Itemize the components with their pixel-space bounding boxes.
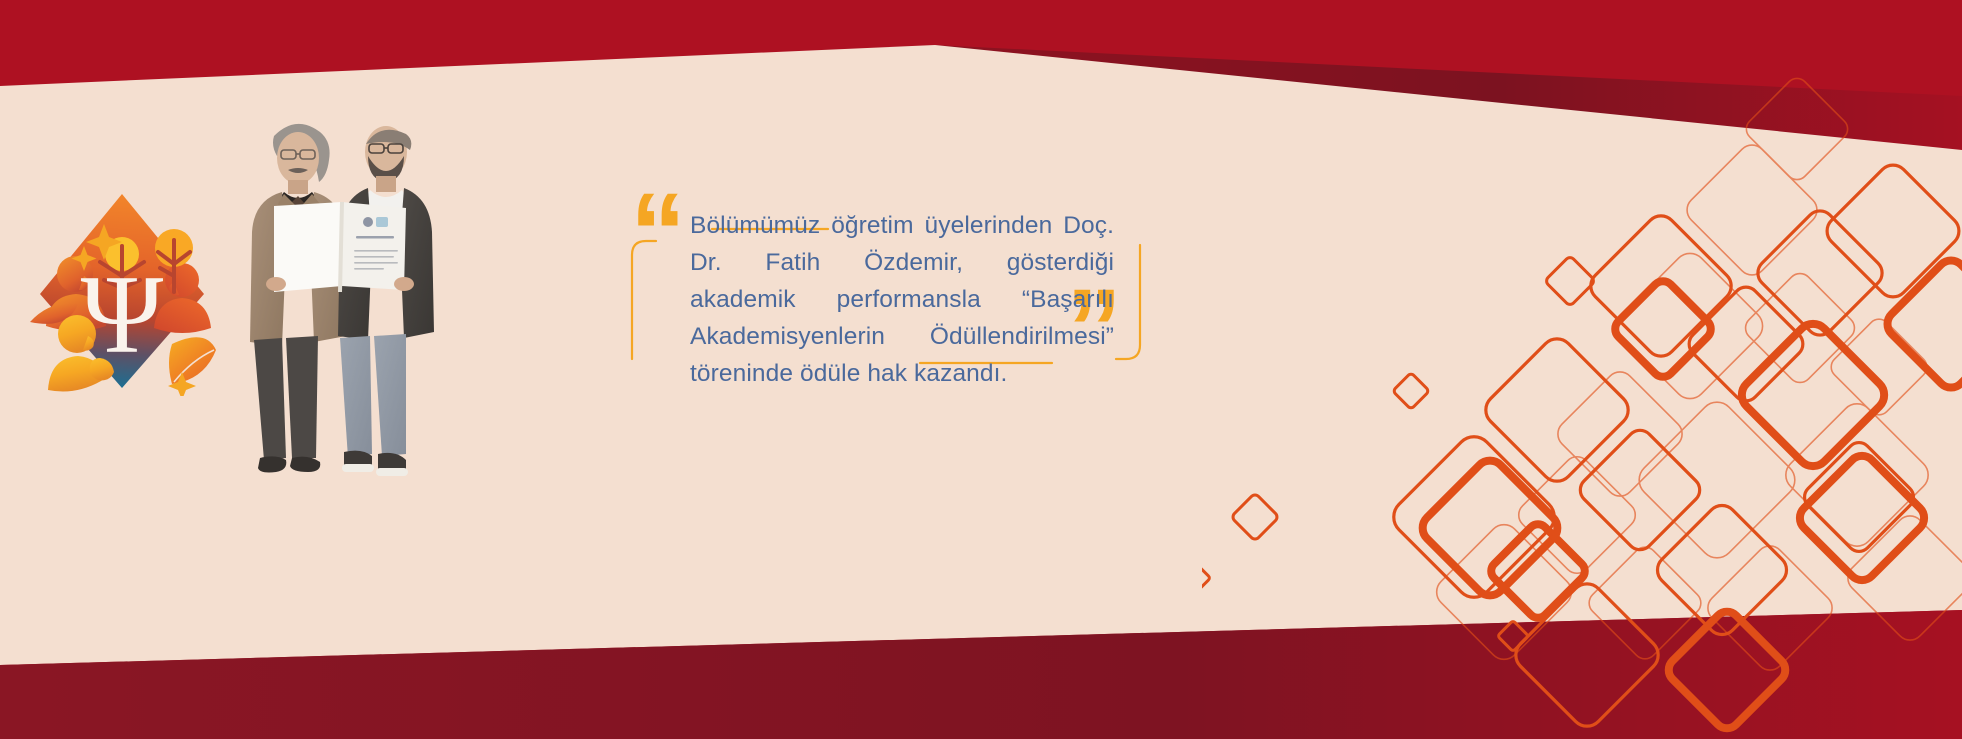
- photo-person-right: [338, 126, 434, 476]
- logo-psi-symbol: Ψ: [81, 253, 164, 377]
- logo-artwork: Ψ: [22, 176, 222, 396]
- award-ceremony-photo: [228, 88, 460, 488]
- award-announcement-banner: Ψ: [0, 0, 1962, 739]
- photo-certificate: [274, 202, 406, 292]
- photo-hand-right: [394, 277, 414, 291]
- quote-text: Bölümümüz öğretim üyelerinden Doç. Dr. F…: [690, 207, 1114, 392]
- psychology-department-logo: Ψ: [22, 176, 222, 396]
- photo-illustration: [228, 88, 460, 488]
- quote-open-mark: “: [630, 177, 684, 289]
- quote-block: “ ” Bölümümüz öğretim üyelerinden Doç. D…: [600, 225, 1160, 375]
- photo-hand-left: [266, 277, 286, 291]
- logo-leaf: [169, 337, 216, 384]
- photo-person-left: [250, 124, 346, 473]
